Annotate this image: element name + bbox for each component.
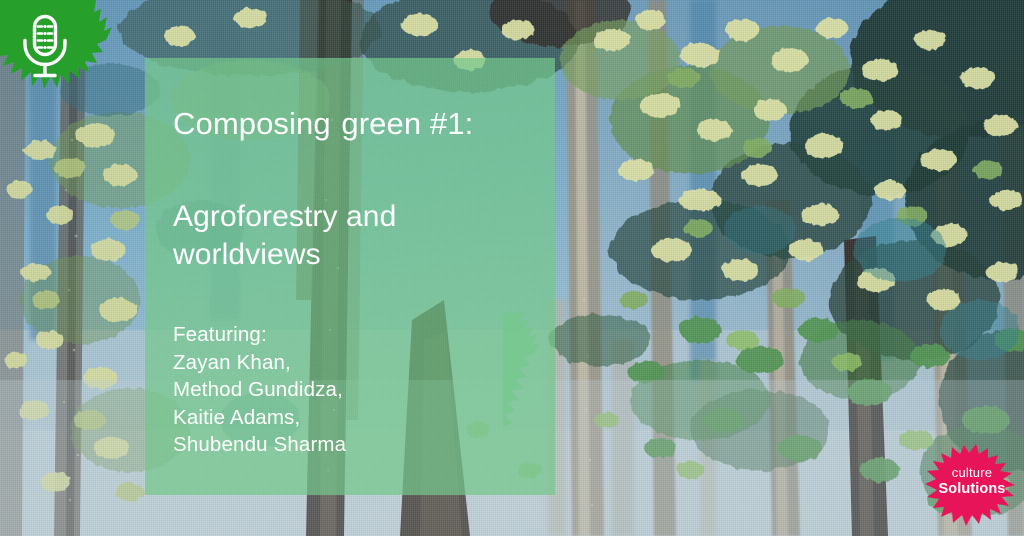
guest-name: Method Gundidza,	[173, 376, 533, 404]
episode-subtitle: Agroforestry and worldviews	[173, 198, 533, 274]
featuring-block: Featuring: Zayan Khan, Method Gundidza, …	[173, 321, 533, 459]
featuring-label: Featuring:	[173, 321, 533, 349]
title-prefix: Composing	[173, 106, 339, 141]
subtitle-line-1: Agroforestry and	[173, 198, 533, 236]
episode-cover-canvas: Composing green #1: Agroforestry and wor…	[0, 0, 1024, 536]
culture-solutions-logo[interactable]	[920, 443, 1024, 536]
guest-name: Kaitie Adams,	[173, 404, 533, 432]
guest-name: Zayan Khan,	[173, 349, 533, 377]
episode-title: Composing green #1:	[173, 106, 533, 142]
text-overlay-panel: Composing green #1: Agroforestry and wor…	[145, 58, 555, 495]
microphone-icon	[17, 14, 73, 80]
subtitle-line-2: worldviews	[173, 236, 533, 274]
guest-name: Shubendu Sharma	[173, 431, 533, 459]
title-highlight: green #1:	[339, 106, 475, 142]
panel-text-block: Composing green #1: Agroforestry and wor…	[173, 106, 533, 459]
